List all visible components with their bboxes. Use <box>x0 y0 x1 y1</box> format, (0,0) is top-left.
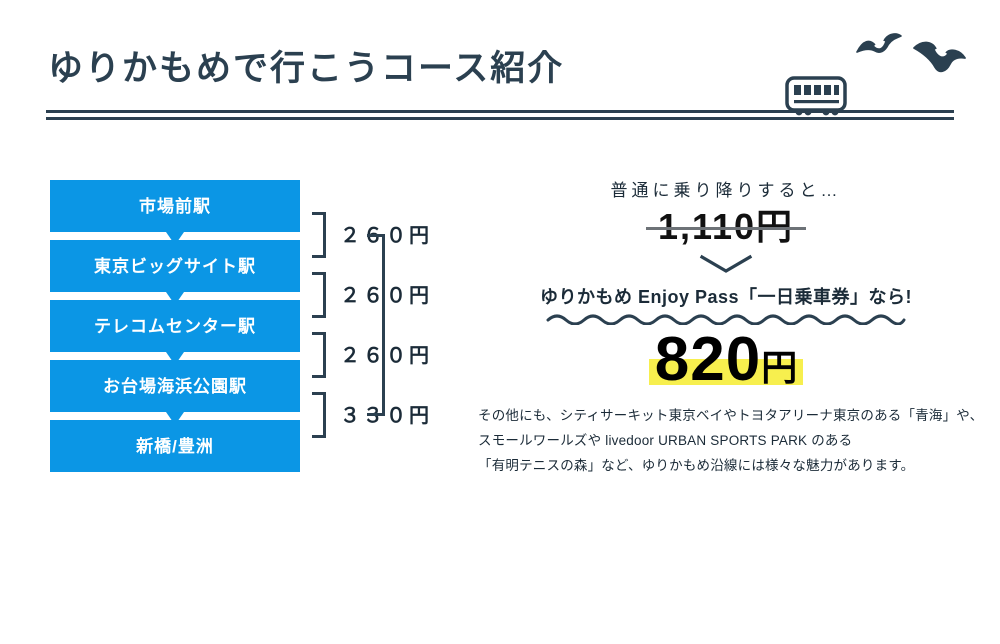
fare-row: ２６０円 <box>312 266 492 326</box>
pass-price-text: 820円 <box>655 329 797 391</box>
fare-row: ２６０円 <box>312 326 492 386</box>
fare-amount: ２６０円 <box>340 339 432 368</box>
chevron-down-icon <box>476 253 976 275</box>
description-line: スモールワールズや livedoor URBAN SPORTS PARK のある <box>478 429 974 454</box>
description-line: その他にも、シティサーキット東京ベイやトヨタアリーナ東京のある「青海」や、 <box>478 404 974 429</box>
normal-fare-total: 1,110円 <box>658 207 794 247</box>
station-box[interactable]: テレコムセンター駅 <box>50 300 300 352</box>
page-header: ゆりかもめで行こうコース紹介 <box>0 0 1000 130</box>
strikethrough-line <box>646 227 806 230</box>
fare-total-bracket <box>367 234 385 416</box>
fare-row: ２６０円 <box>312 206 492 266</box>
fare-bracket <box>312 392 326 438</box>
pass-caption: ゆりかもめ Enjoy Pass「一日乗車券」なら! <box>476 283 976 309</box>
wavy-underline <box>476 311 976 325</box>
fare-amount: ３３０円 <box>340 399 432 428</box>
page-title: ゆりかもめで行こうコース紹介 <box>48 40 564 91</box>
station-label: 新橋/豊洲 <box>136 438 214 455</box>
pass-price-number: 820 <box>655 325 761 394</box>
station-label: 市場前駅 <box>139 198 211 215</box>
station-box[interactable]: 新橋/豊洲 <box>50 420 300 472</box>
route-diagram: 市場前駅 東京ビッグサイト駅 テレコムセンター駅 お台場海浜公園駅 新橋/豊洲 … <box>50 180 450 480</box>
description-line: 「有明テニスの森」など、ゆりかもめ沿線には様々な魅力があります。 <box>478 454 974 479</box>
station-label: テレコムセンター駅 <box>94 318 256 335</box>
pass-price-unit: 円 <box>761 347 797 388</box>
fare-amount: ２６０円 <box>340 219 432 248</box>
fare-bracket <box>312 272 326 318</box>
fare-bracket <box>312 332 326 378</box>
pass-price: 820円 <box>649 329 803 391</box>
train-icon <box>784 76 856 118</box>
fare-bracket <box>312 212 326 258</box>
station-box[interactable]: お台場海浜公園駅 <box>50 360 300 412</box>
station-label: お台場海浜公園駅 <box>103 378 247 395</box>
seagull-icon <box>854 30 904 64</box>
description-text: その他にも、シティサーキット東京ベイやトヨタアリーナ東京のある「青海」や、 スモ… <box>478 404 974 479</box>
fare-amount: ２６０円 <box>340 279 432 308</box>
normal-fare-caption: 普通に乗り降りすると… <box>476 176 976 201</box>
seagull-icon <box>912 36 968 84</box>
fare-row: ３３０円 <box>312 386 492 446</box>
station-box[interactable]: 市場前駅 <box>50 180 300 232</box>
station-label: 東京ビッグサイト駅 <box>94 258 256 275</box>
station-box[interactable]: 東京ビッグサイト駅 <box>50 240 300 292</box>
